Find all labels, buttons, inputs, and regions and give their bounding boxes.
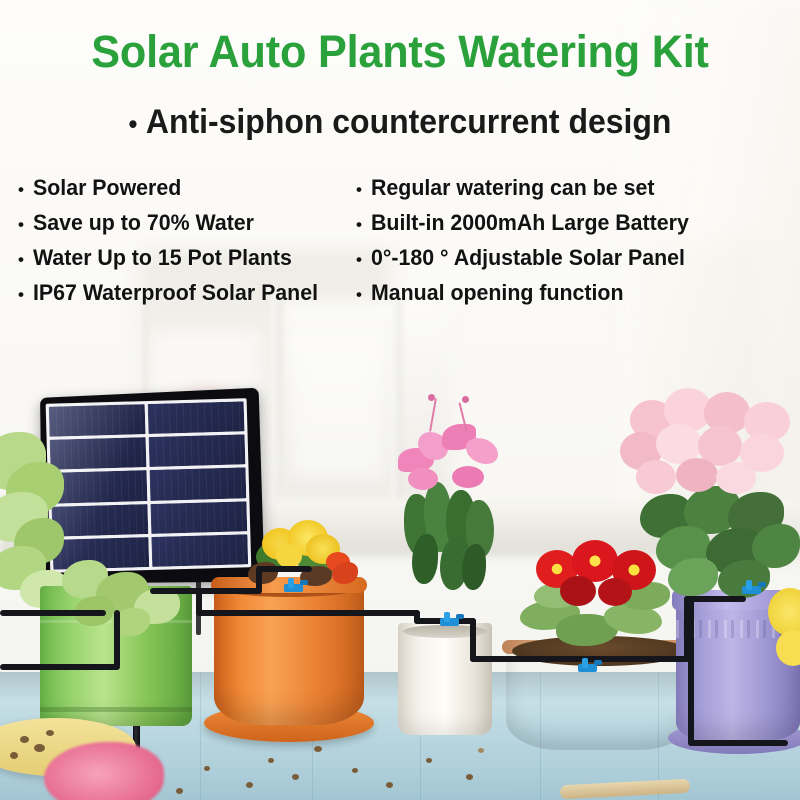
feature-label: Manual opening function (371, 275, 624, 310)
feature-item: • 0°-180 ° Adjustable Solar Panel (356, 240, 796, 275)
feature-bullet: • (18, 277, 24, 312)
orange-pot (214, 577, 364, 725)
page-title: Solar Auto Plants Watering Kit (16, 26, 784, 78)
feature-bullet: • (356, 207, 362, 242)
solar-panel (35, 389, 262, 585)
solar-panel-cells (46, 398, 252, 573)
feature-list-right: • Regular watering can be set • Built-in… (356, 170, 796, 310)
feature-item: • Solar Powered (18, 170, 368, 205)
tube-segment (114, 610, 120, 668)
feature-bullet: • (356, 172, 362, 207)
feature-bullet: • (18, 172, 24, 207)
feature-item: • Water Up to 15 Pot Plants (18, 240, 368, 275)
subtitle-text: Anti-siphon countercurrent design (146, 103, 672, 141)
feature-item: • Built-in 2000mAh Large Battery (356, 205, 796, 240)
feature-item: • Save up to 70% Water (18, 205, 368, 240)
tube-segment (0, 664, 120, 670)
white-pot (398, 623, 492, 735)
feature-label: Water Up to 15 Pot Plants (33, 240, 292, 275)
feature-item: • Regular watering can be set (356, 170, 796, 205)
feature-bullet: • (356, 242, 362, 277)
product-marketing-image: Solar Auto Plants Watering Kit •Anti-sip… (0, 0, 800, 800)
tube-segment (688, 596, 694, 746)
feature-label: 0°-180 ° Adjustable Solar Panel (371, 240, 685, 275)
tube-segment (688, 740, 788, 746)
feature-bullet: • (18, 207, 24, 242)
tube-segment (0, 610, 106, 616)
feature-label: Solar Powered (33, 170, 181, 205)
subtitle-bullet: • (129, 109, 138, 139)
subtitle: •Anti-siphon countercurrent design (24, 103, 776, 142)
feature-label: IP67 Waterproof Solar Panel (33, 275, 318, 310)
tube-segment (256, 566, 312, 572)
feature-bullet: • (356, 277, 362, 312)
feature-item: • Manual opening function (356, 275, 796, 310)
feature-label: Save up to 70% Water (33, 205, 254, 240)
tube-segment (300, 610, 420, 616)
feature-label: Built-in 2000mAh Large Battery (371, 205, 689, 240)
feature-label: Regular watering can be set (371, 170, 654, 205)
feature-item: • IP67 Waterproof Solar Panel (18, 275, 368, 310)
feature-list-left: • Solar Powered • Save up to 70% Water •… (18, 170, 368, 310)
tube-segment (196, 610, 306, 616)
window-frame-mid (272, 290, 281, 530)
window-pane-b (290, 330, 385, 480)
tube-segment (600, 656, 690, 662)
tube-segment (150, 588, 262, 594)
feature-bullet: • (18, 242, 24, 277)
